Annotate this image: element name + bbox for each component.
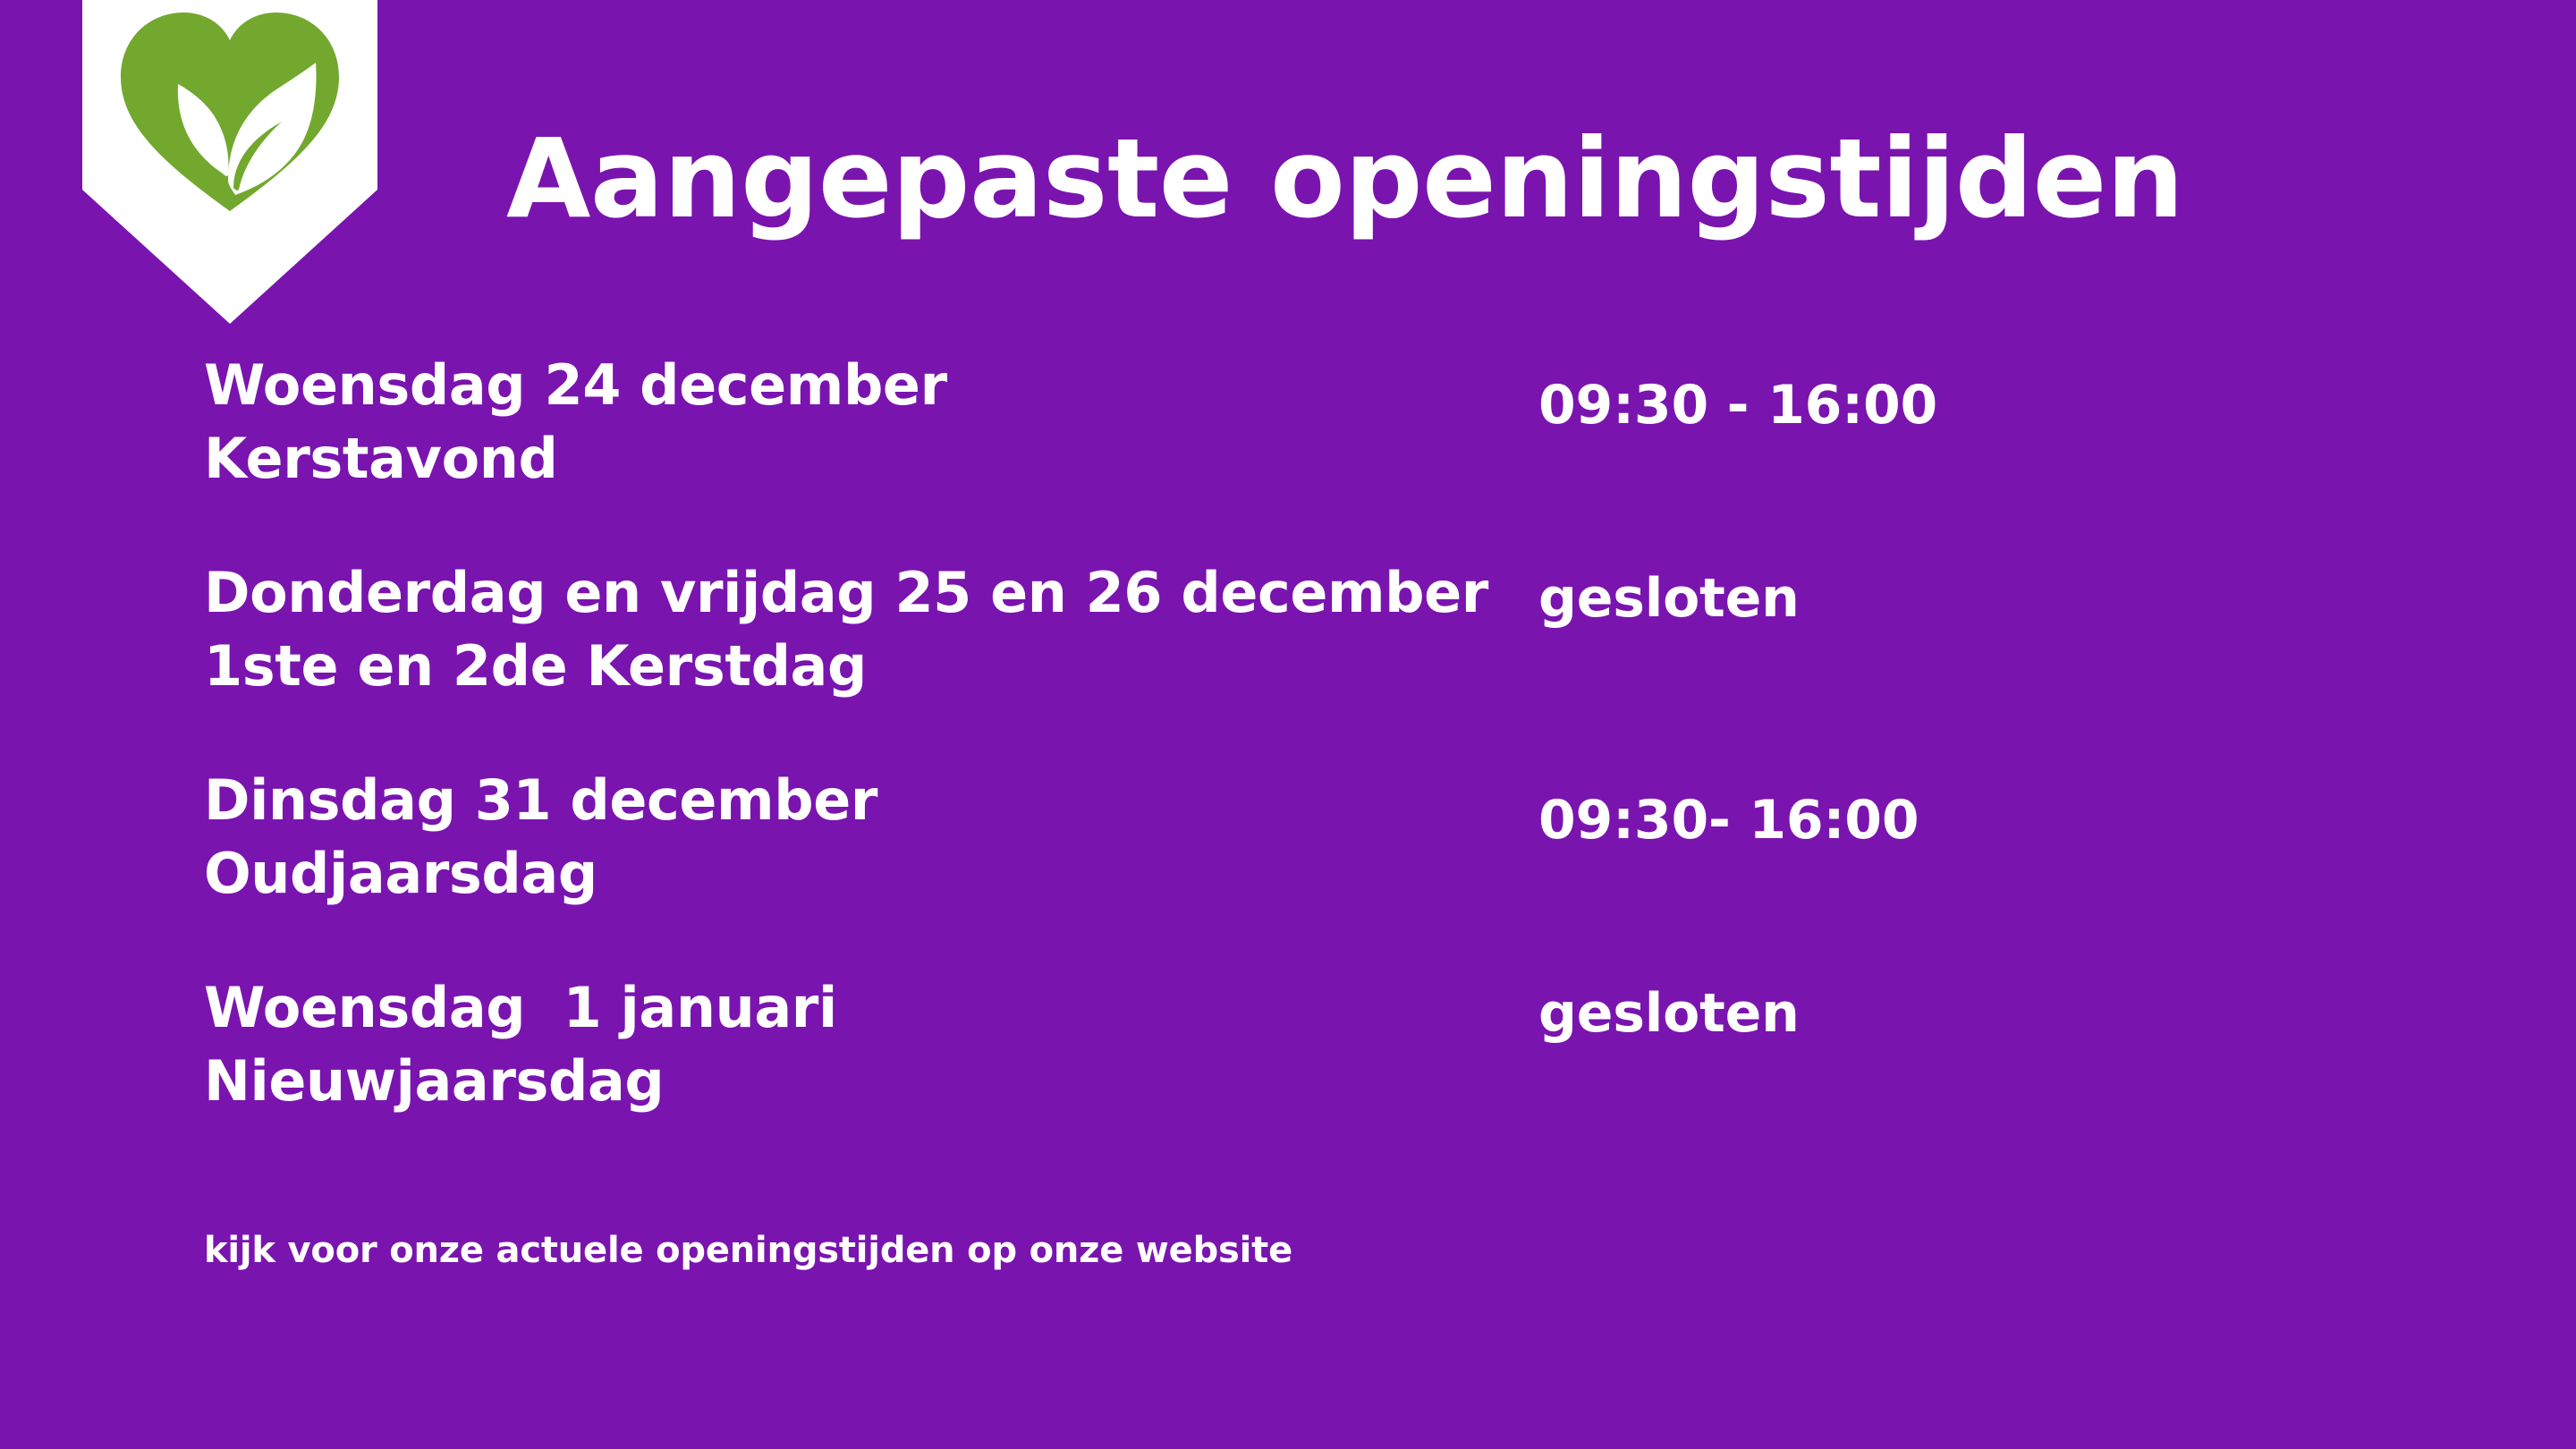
row-hours-cell: gesloten (1538, 556, 2576, 632)
row-occasion: Kerstavond (204, 422, 1538, 496)
website-note: kijk voor onze actuele openingstijden op… (204, 1229, 1292, 1272)
row-hours: 09:30 - 16:00 (1538, 372, 2576, 439)
row-hours: 09:30- 16:00 (1538, 787, 2576, 854)
page-title: Aangepaste openingstijden (506, 122, 2183, 236)
row-hours-cell: 09:30 - 16:00 (1538, 349, 2576, 439)
row-hours: gesloten (1538, 565, 2576, 632)
row-hours: gesloten (1538, 980, 2576, 1047)
row-date: Donderdag en vrijdag 25 en 26 december (204, 556, 1538, 630)
row-date: Woensdag 24 december (204, 349, 1538, 422)
table-row: Woensdag 1 januari Nieuwjaarsdag geslote… (0, 971, 2576, 1179)
table-row: Dinsdag 31 december Oudjaarsdag 09:30- 1… (0, 764, 2576, 971)
row-occasion: 1ste en 2de Kerstdag (204, 630, 1538, 703)
row-date-cell: Donderdag en vrijdag 25 en 26 december 1… (0, 556, 1538, 703)
row-date: Woensdag 1 januari (204, 971, 1538, 1045)
row-date-cell: Woensdag 1 januari Nieuwjaarsdag (0, 971, 1538, 1118)
row-date-cell: Dinsdag 31 december Oudjaarsdag (0, 764, 1538, 911)
row-hours-cell: gesloten (1538, 971, 2576, 1047)
table-row: Donderdag en vrijdag 25 en 26 december 1… (0, 556, 2576, 764)
row-date-cell: Woensdag 24 december Kerstavond (0, 349, 1538, 496)
heart-leaf-logo (82, 0, 377, 324)
opening-hours-poster: Aangepaste openingstijden Woensdag 24 de… (0, 0, 2576, 1449)
row-occasion: Nieuwjaarsdag (204, 1045, 1538, 1118)
table-row: Woensdag 24 december Kerstavond 09:30 - … (0, 349, 2576, 556)
opening-hours-table: Woensdag 24 december Kerstavond 09:30 - … (0, 349, 2576, 1179)
row-occasion: Oudjaarsdag (204, 837, 1538, 911)
row-date: Dinsdag 31 december (204, 764, 1538, 837)
row-hours-cell: 09:30- 16:00 (1538, 764, 2576, 854)
